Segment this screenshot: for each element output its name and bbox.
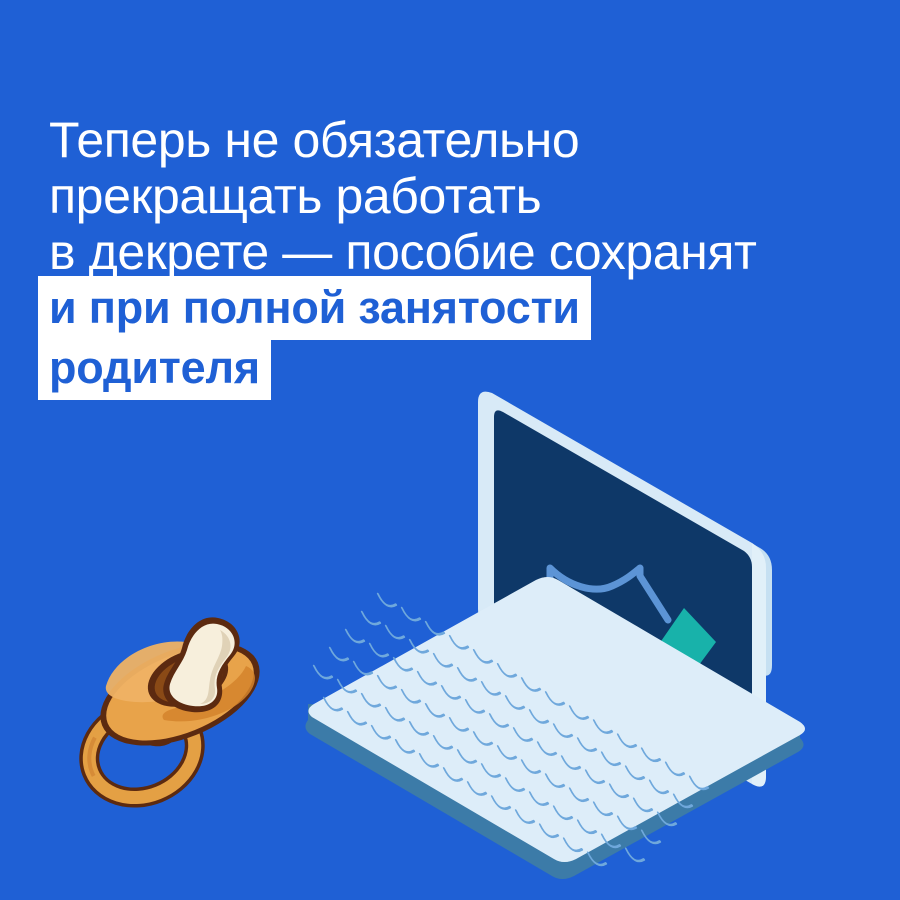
headline-line-1: Теперь не обязательно — [49, 112, 900, 168]
headline-line-2: прекращать работать — [49, 168, 900, 224]
laptop-illustration — [300, 380, 820, 880]
headline-line-5-wrap: родителя — [38, 340, 900, 396]
headline-line-4-wrap: и при полной занятости — [38, 280, 900, 336]
pacifier-svg — [68, 600, 283, 815]
headline-line-5-highlight: родителя — [38, 336, 271, 400]
headline-block: Теперь не обязательно прекращать работат… — [0, 112, 900, 396]
pacifier-illustration — [68, 600, 283, 815]
headline-line-3: в декрете — пособие сохранят — [49, 224, 900, 280]
laptop-svg — [300, 380, 820, 880]
social-card: Теперь не обязательно прекращать работат… — [0, 0, 900, 900]
headline-line-4-highlight: и при полной занятости — [38, 276, 591, 340]
